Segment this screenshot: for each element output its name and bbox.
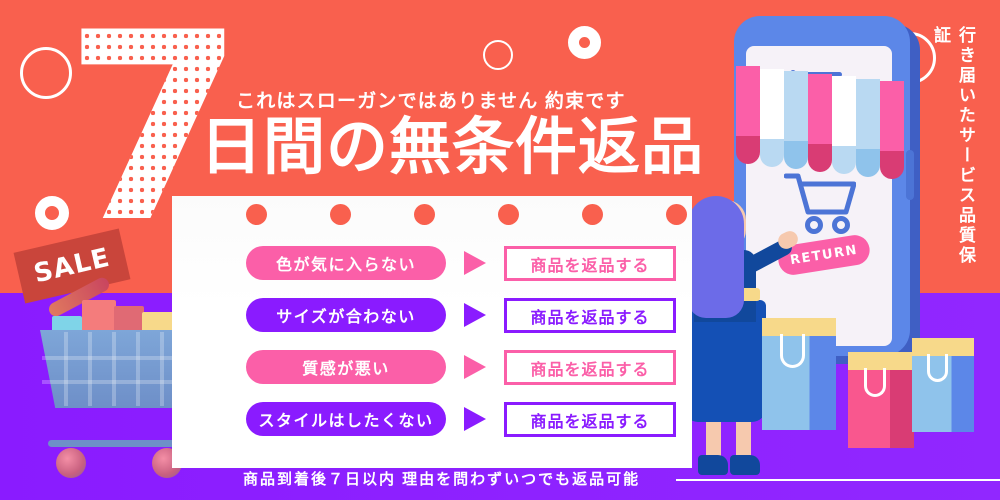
dot-marker [666, 204, 687, 225]
dot-row [246, 204, 676, 226]
bag-blue-large [762, 318, 836, 430]
cart-grid-line [112, 332, 116, 406]
awning-stripe [808, 74, 832, 144]
cart-grid-line [160, 332, 164, 406]
page-title: 日間の無条件返品 [200, 112, 720, 182]
awning-scallop [832, 146, 856, 174]
awning-stripe [880, 81, 904, 151]
return-reason-list: 色が気に入らない商品を返品するサイズが合わない商品を返品する質感が悪い商品を返品… [246, 246, 676, 446]
reason-pill[interactable]: 色が気に入らない [246, 246, 446, 280]
reason-pill[interactable]: サイズが合わない [246, 298, 446, 332]
cart-grid-line [42, 380, 188, 384]
awning-stripe [760, 69, 784, 139]
woman-shoe [730, 455, 760, 475]
dot-marker [330, 204, 351, 225]
woman-shoe [698, 455, 728, 475]
return-reason-row: スタイルはしたくない商品を返品する [246, 402, 676, 438]
promo-banner: 7 SALE これはスローガンではありません 約束です 日間の無条件返品 行き届… [0, 0, 1000, 500]
cart-wheel [56, 448, 86, 478]
bottom-caption: 商品到着後７日以内 理由を問わずいつでも返品可能 [243, 468, 663, 492]
arrow-right-icon [464, 303, 486, 327]
cart-grid-line [64, 332, 68, 406]
awning-scallop [760, 139, 784, 167]
return-action-button[interactable]: 商品を返品する [504, 350, 676, 385]
bag-pink [848, 352, 914, 448]
return-reason-row: 色が気に入らない商品を返品する [246, 246, 676, 282]
cart-grid-line [88, 332, 92, 406]
shopping-cart-icon [784, 172, 856, 234]
awning-scallop [856, 149, 880, 177]
return-reason-row: 質感が悪い商品を返品する [246, 350, 676, 386]
arrow-right-icon [464, 355, 486, 379]
return-action-button[interactable]: 商品を返品する [504, 298, 676, 333]
bag-handle [780, 334, 805, 368]
dot-marker [582, 204, 603, 225]
bag-handle [864, 368, 886, 397]
storefront-awning [736, 66, 908, 154]
cart-grid-line [42, 356, 188, 360]
return-button-label: RETURN [789, 242, 859, 267]
arrow-right-icon [464, 407, 486, 431]
return-action-button[interactable]: 商品を返品する [504, 402, 676, 437]
cart-base-bar [48, 440, 188, 447]
circle-decoration-icon [568, 26, 601, 59]
awning-stripe [784, 71, 808, 141]
awning-stripe [736, 66, 760, 136]
awning-stripe [856, 79, 880, 149]
awning-scallop [880, 151, 904, 179]
cart-grid-line [136, 332, 140, 406]
arrow-right-icon [464, 251, 486, 275]
dot-marker [498, 204, 519, 225]
circle-decoration-icon [483, 40, 513, 70]
caption-divider [676, 479, 1000, 481]
bag-handle [927, 354, 948, 382]
cart-basket [40, 330, 192, 408]
awning-stripe [832, 76, 856, 146]
subtitle: これはスローガンではありません 約束です [236, 86, 666, 112]
vertical-tagline: 行き届いたサービス品質保証 [948, 26, 978, 276]
woman-hair [688, 196, 744, 318]
reason-pill[interactable]: スタイルはしたくない [246, 402, 446, 436]
return-reason-row: サイズが合わない商品を返品する [246, 298, 676, 334]
awning-scallop [784, 141, 808, 169]
awning-scallop [808, 144, 832, 172]
dot-marker [414, 204, 435, 225]
return-action-button[interactable]: 商品を返品する [504, 246, 676, 281]
reason-pill[interactable]: 質感が悪い [246, 350, 446, 384]
dot-marker [246, 204, 267, 225]
awning-scallop [736, 136, 760, 164]
bag-blue-small [912, 338, 974, 432]
phone-side-button[interactable] [906, 150, 914, 200]
